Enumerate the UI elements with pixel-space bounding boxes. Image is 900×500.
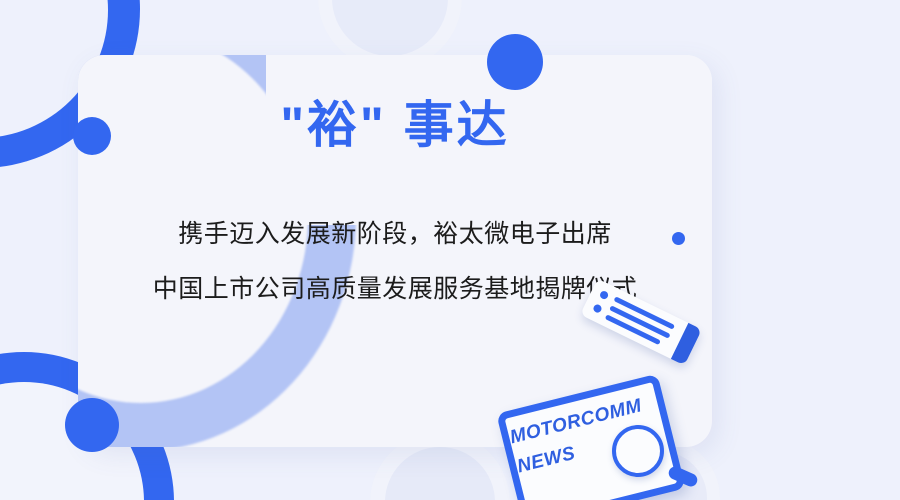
list-card-cap bbox=[671, 323, 702, 366]
list-card-icon bbox=[580, 279, 702, 366]
magnifier-lens-icon bbox=[612, 425, 664, 477]
banner-canvas: "裕" 事达 携手迈入发展新阶段，裕太微电子出席 中国上市公司高质量发展服务基地… bbox=[0, 0, 900, 500]
list-bullet-2 bbox=[592, 303, 603, 314]
news-illustration: MOTORCOMM NEWS bbox=[0, 0, 900, 500]
list-bullet-1 bbox=[599, 290, 610, 301]
